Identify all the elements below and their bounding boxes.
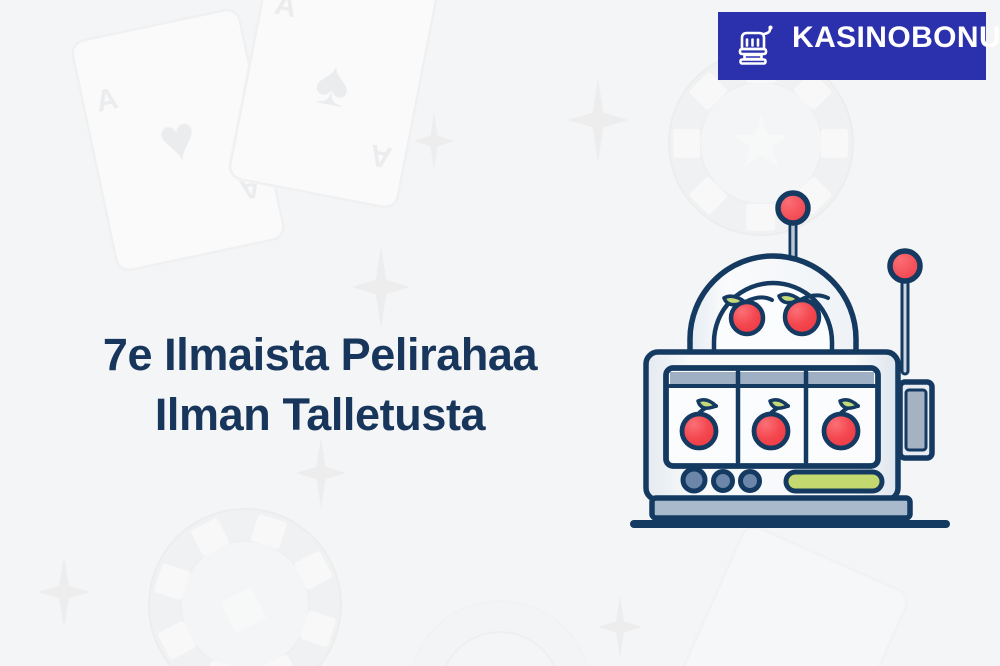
page-title: 7e Ilmaista Pelirahaa Ilman Talletusta (40, 325, 600, 444)
antenna (778, 193, 808, 264)
watermark-sparkle-bottom-left (38, 556, 90, 628)
watermark-ace-of-hearts-card: A ♥ A (69, 7, 286, 274)
promo-banner: A ♥ A A ♠ A ★ (0, 0, 1000, 666)
slot-machine-icon (732, 20, 780, 73)
watermark-poker-chip-diamond: ◆ (123, 483, 367, 666)
kasinobonus-logo[interactable]: KASINOBONUS .AI (718, 12, 986, 80)
machine-base (634, 498, 946, 524)
card-suit-center: ♥ (154, 106, 203, 174)
watermark-sparkle-bottom-center (598, 596, 642, 658)
chip-spoke (202, 660, 240, 666)
chip-spoke (154, 562, 190, 600)
chip-spoke (674, 128, 701, 157)
watermark-sparkle-top-left (414, 112, 454, 170)
chip-spoke (300, 610, 336, 648)
logo-name: KASINOBONUS (792, 23, 1000, 53)
logo-wordmark: KASINOBONUS .AI (792, 23, 1000, 70)
card-rank-bottom: A (368, 139, 395, 173)
headline-line-1: 7e Ilmaista Pelirahaa (40, 325, 600, 384)
chip-spoke (260, 654, 300, 666)
watermark-blank-card (648, 522, 912, 666)
card-rank-top: A (272, 0, 299, 23)
chip-star-mark: ★ (729, 107, 794, 179)
chip-spoke (190, 517, 230, 556)
watermark-poker-chip-bottom-center (408, 600, 592, 666)
watermark-sparkle-mid-center (352, 246, 410, 328)
headline-line-2: Ilman Talletusta (40, 385, 600, 444)
card-rank-bottom: A (237, 170, 264, 204)
card-suit-center: ♠ (310, 48, 356, 117)
watermark-ace-of-spades-card: A ♠ A (227, 0, 441, 210)
watermark-sparkle-mid-left (296, 438, 346, 508)
chip-spoke (294, 550, 333, 590)
chip-spoke (821, 128, 848, 157)
watermark-sparkle-top-center (568, 78, 628, 162)
side-panel (900, 382, 932, 458)
chip-spoke (157, 620, 196, 660)
chip-spoke (250, 514, 288, 550)
machine-dome (690, 256, 856, 353)
card-rank-top: A (93, 84, 120, 118)
chip-diamond-mark: ◆ (212, 567, 279, 643)
slot-machine-illustration (628, 186, 958, 534)
logo-suffix: .AI (792, 56, 1000, 70)
